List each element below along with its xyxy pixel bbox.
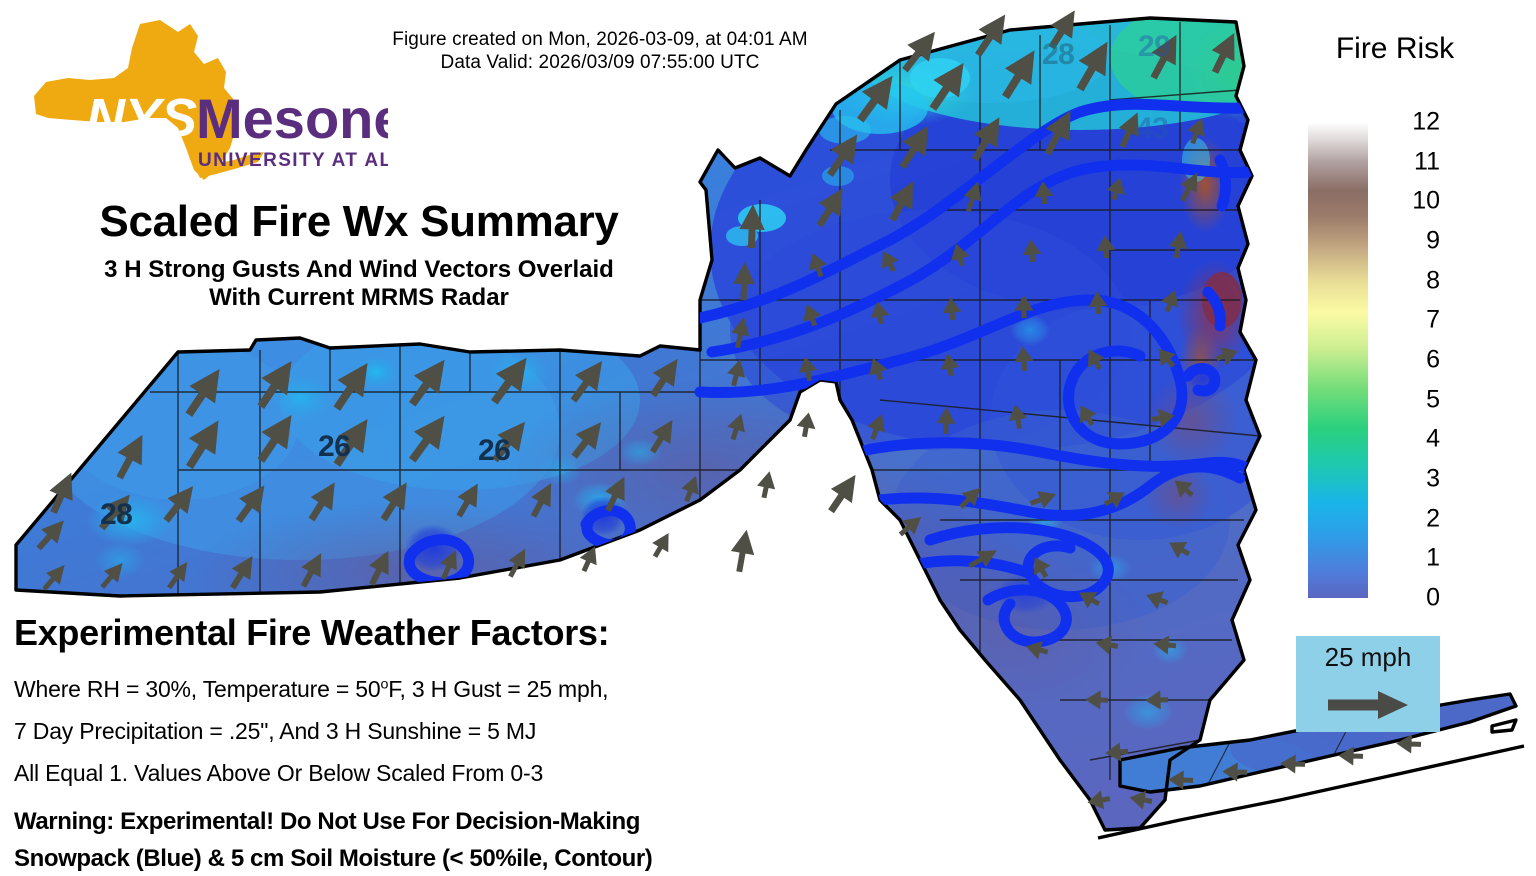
colorbar-tick: 10 xyxy=(1412,189,1440,214)
subtitle-line-1: 3 H Strong Gusts And Wind Vectors Overla… xyxy=(14,256,704,284)
colorbar-tick: 9 xyxy=(1426,229,1440,254)
colorbar-tick: 12 xyxy=(1412,110,1440,135)
colorbar-tick: 2 xyxy=(1426,506,1440,531)
colorbar-tick: 5 xyxy=(1426,387,1440,412)
gust-label: 28 xyxy=(1042,38,1074,72)
gust-label: 28 xyxy=(100,498,132,532)
factors-heading: Experimental Fire Weather Factors: xyxy=(14,612,609,654)
page-title: Scaled Fire Wx Summary xyxy=(14,196,704,248)
factor-line-1: Where RH = 30%, Temperature = 50oF, 3 H … xyxy=(14,676,608,702)
figure-timestamp-block: Figure created on Mon, 2026-03-09, at 04… xyxy=(340,28,860,74)
page-subtitle: 3 H Strong Gusts And Wind Vectors Overla… xyxy=(14,256,704,312)
fire-risk-colorbar xyxy=(1308,122,1368,598)
colorbar-title: Fire Risk xyxy=(1300,32,1490,66)
gust-label: 43 xyxy=(1136,112,1168,146)
logo-acronym: NYS xyxy=(86,88,197,148)
factor-line-1b: F, 3 H Gust = 25 mph, xyxy=(388,676,608,702)
colorbar-tick: 3 xyxy=(1426,467,1440,492)
figure-created-line: Figure created on Mon, 2026-03-09, at 04… xyxy=(340,28,860,51)
colorbar-tick: 7 xyxy=(1426,308,1440,333)
subtitle-line-2: With Current MRMS Radar xyxy=(14,284,704,312)
nys-mesonet-logo: NYS Mesonet UNIVERSITY AT ALBANY xyxy=(28,18,388,190)
colorbar-tick: 8 xyxy=(1426,268,1440,293)
colorbar-tick: 1 xyxy=(1426,546,1440,571)
warning-line-2: Snowpack (Blue) & 5 cm Soil Moisture (< … xyxy=(14,845,652,873)
wind-key-arrow-icon xyxy=(1326,688,1410,722)
colorbar-tick: 0 xyxy=(1426,586,1440,611)
wind-speed-key: 25 mph xyxy=(1296,636,1440,732)
factor-line-1a: Where RH = 30%, Temperature = 50 xyxy=(14,676,380,702)
gust-label: 26 xyxy=(478,434,510,468)
colorbar-tick: 4 xyxy=(1426,427,1440,452)
gust-label: 26 xyxy=(318,430,350,464)
factor-line-3: All Equal 1. Values Above Or Below Scale… xyxy=(14,760,543,786)
warning-line-1: Warning: Experimental! Do Not Use For De… xyxy=(14,808,640,836)
factor-line-2: 7 Day Precipitation = .25", And 3 H Suns… xyxy=(14,718,536,744)
colorbar-tick: 11 xyxy=(1414,149,1440,174)
colorbar-tick: 6 xyxy=(1426,348,1440,373)
logo-tagline: UNIVERSITY AT ALBANY xyxy=(198,150,388,171)
data-valid-line: Data Valid: 2026/03/09 07:55:00 UTC xyxy=(340,51,860,74)
colorbar-tick-labels: 1211109876543210 xyxy=(1388,110,1448,610)
gust-label: 29 xyxy=(1138,30,1170,64)
logo-wordmark: Mesonet xyxy=(196,87,388,150)
wind-key-label: 25 mph xyxy=(1296,642,1440,673)
